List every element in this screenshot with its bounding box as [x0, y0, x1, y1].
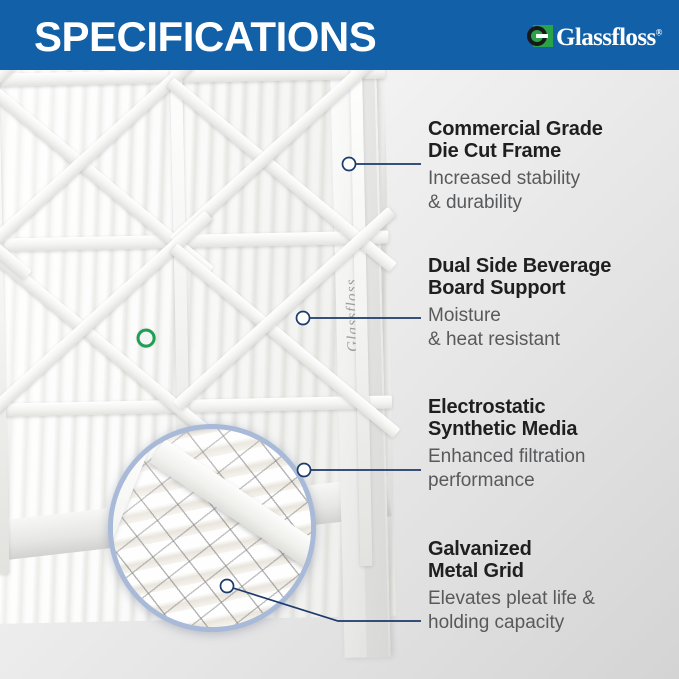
product-photo: Glassfloss	[0, 70, 420, 679]
spec-description: Elevates pleat life & holding capacity	[428, 587, 678, 635]
magnifier-inset	[108, 424, 316, 632]
header-bar: SPECIFICATIONS Glassfloss®	[0, 0, 679, 70]
spec-description: Enhanced filtration performance	[428, 445, 678, 493]
spec-title-line-2: Metal Grid	[428, 560, 678, 582]
grid-center-marker	[136, 328, 155, 347]
spec-desc-line-2: & heat resistant	[428, 328, 678, 352]
spec-title: Electrostatic Synthetic Media	[428, 396, 678, 441]
glassfloss-g-logo-icon	[527, 25, 553, 49]
spec-title-line-2: Board Support	[428, 277, 678, 299]
spec-title-line-1: Galvanized	[428, 538, 678, 560]
spec-desc-line-2: performance	[428, 469, 678, 493]
spec-item-dual-side-beverage-board-support: Dual Side Beverage Board Support Moistur…	[428, 255, 678, 351]
spec-description: Increased stability & durability	[428, 167, 678, 215]
page-title: SPECIFICATIONS	[34, 13, 376, 61]
spec-title: Dual Side Beverage Board Support	[428, 255, 678, 300]
spec-title-line-2: Synthetic Media	[428, 418, 678, 440]
spec-description: Moisture & heat resistant	[428, 304, 678, 352]
spec-title-line-1: Dual Side Beverage	[428, 255, 678, 277]
brand-logo: Glassfloss®	[527, 24, 662, 50]
spec-desc-line-1: Elevates pleat life &	[428, 587, 678, 611]
spec-item-commercial-grade-die-cut-frame: Commercial Grade Die Cut Frame Increased…	[428, 118, 678, 214]
brand-name: Glassfloss	[556, 24, 656, 51]
spec-desc-line-2: holding capacity	[428, 611, 678, 635]
spec-desc-line-2: & durability	[428, 191, 678, 215]
spec-title-line-1: Commercial Grade	[428, 118, 678, 140]
spec-item-electrostatic-synthetic-media: Electrostatic Synthetic Media Enhanced f…	[428, 396, 678, 492]
spec-title-line-1: Electrostatic	[428, 396, 678, 418]
registered-mark: ®	[656, 27, 662, 37]
spec-item-galvanized-metal-grid: Galvanized Metal Grid Elevates pleat lif…	[428, 538, 678, 634]
spec-title: Galvanized Metal Grid	[428, 538, 678, 583]
specifications-infographic: SPECIFICATIONS Glassfloss® Glassfloss	[0, 0, 679, 679]
spec-desc-line-1: Moisture	[428, 304, 678, 328]
spec-title: Commercial Grade Die Cut Frame	[428, 118, 678, 163]
brand-wordmark: Glassfloss®	[556, 25, 662, 50]
spec-title-line-2: Die Cut Frame	[428, 140, 678, 162]
spec-desc-line-1: Increased stability	[428, 167, 678, 191]
spec-desc-line-1: Enhanced filtration	[428, 445, 678, 469]
